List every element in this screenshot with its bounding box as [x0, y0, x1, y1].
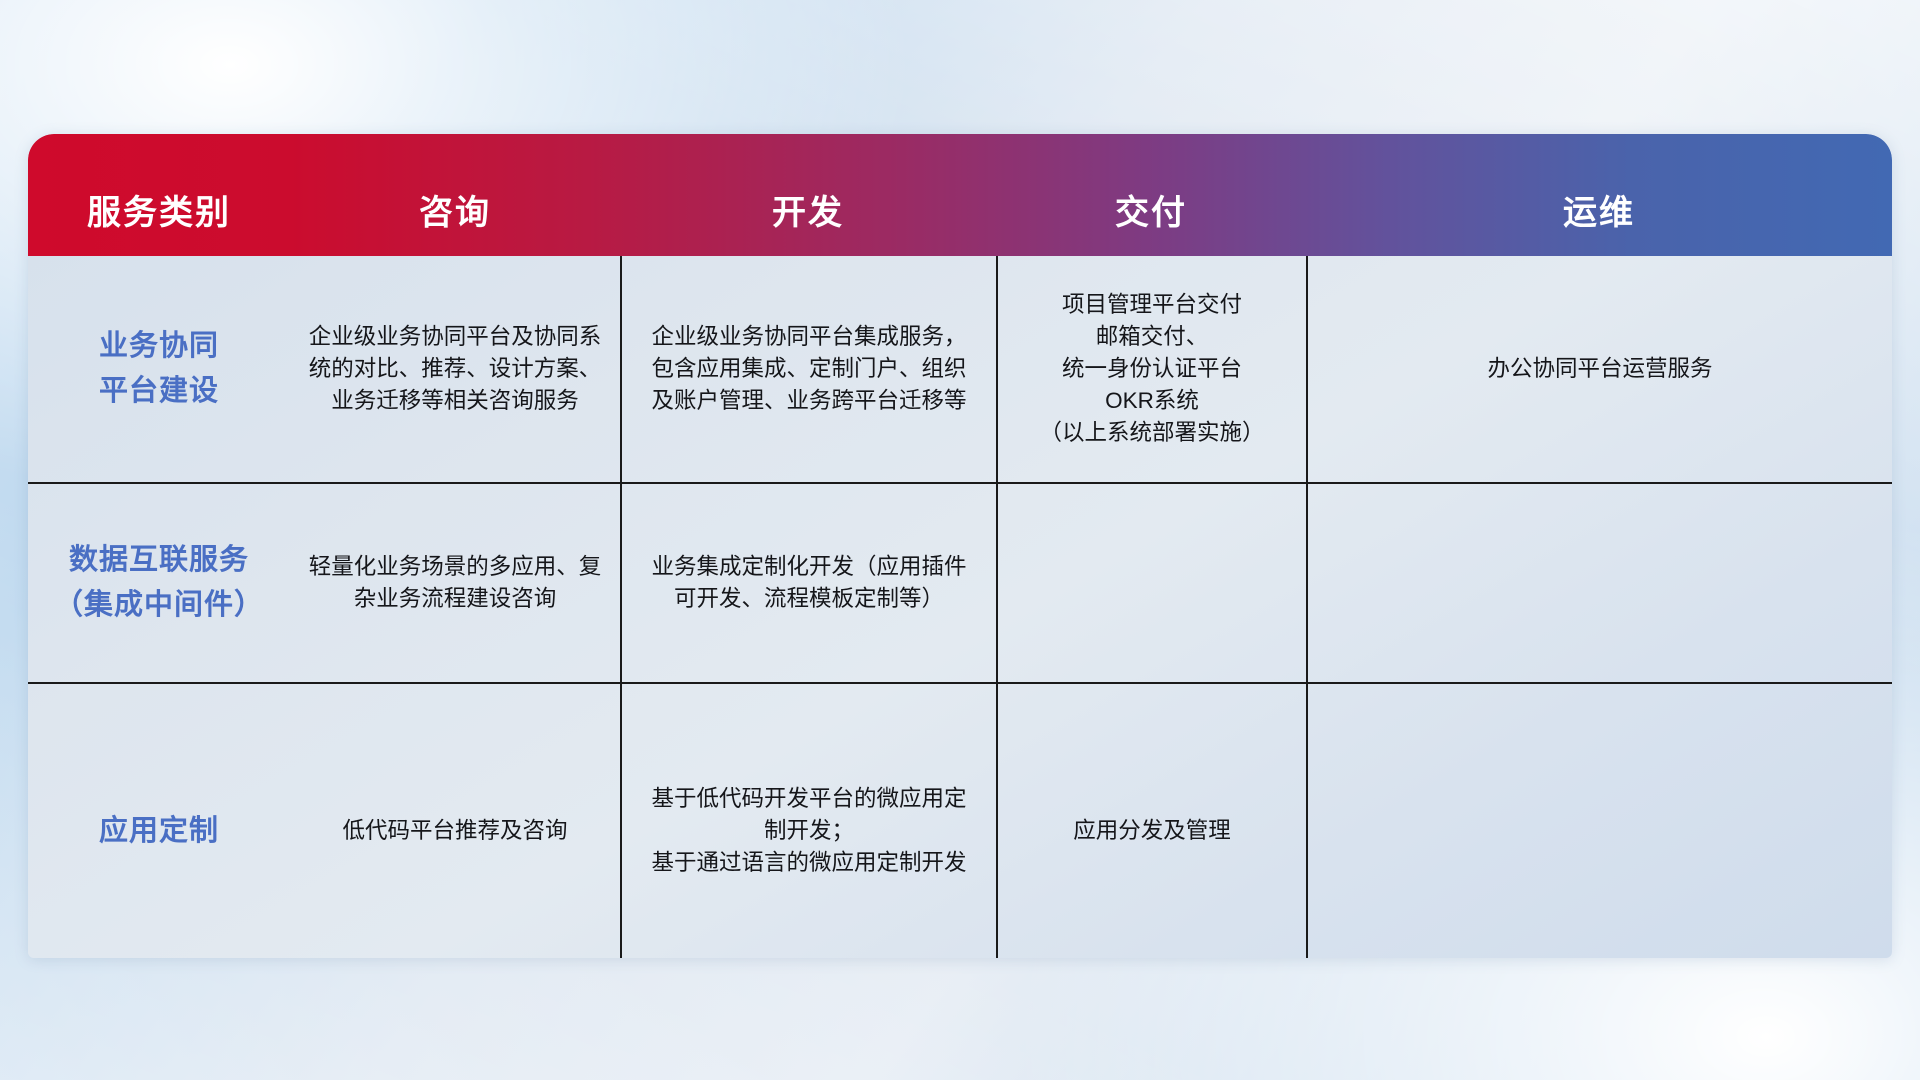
cell-category: 数据互联服务 （集成中间件） [28, 484, 290, 682]
cell-category: 应用定制 [28, 684, 290, 958]
cell-development: 基于低代码开发平台的微应用定 制开发； 基于通过语言的微应用定制开发 [620, 684, 996, 958]
cell-category: 业务协同 平台建设 [28, 256, 290, 482]
cell-consulting: 轻量化业务场景的多应用、复 杂业务流程建设咨询 [290, 484, 620, 682]
table-header-row: 服务类别 咨询 开发 交付 运维 [28, 134, 1892, 256]
cell-operations [1306, 684, 1892, 958]
cell-consulting: 企业级业务协同平台及协同系 统的对比、推荐、设计方案、 业务迁移等相关咨询服务 [290, 256, 620, 482]
table-row: 数据互联服务 （集成中间件） 轻量化业务场景的多应用、复 杂业务流程建设咨询 业… [28, 482, 1892, 682]
column-header-service-category: 服务类别 [28, 185, 290, 256]
cell-consulting: 低代码平台推荐及咨询 [290, 684, 620, 958]
services-matrix-table: 服务类别 咨询 开发 交付 运维 业务协同 平台建设 企业级业务协同平台及协同系… [28, 134, 1892, 958]
cell-delivery: 项目管理平台交付 邮箱交付、 统一身份认证平台 OKR系统 （以上系统部署实施） [996, 256, 1306, 482]
table-body: 业务协同 平台建设 企业级业务协同平台及协同系 统的对比、推荐、设计方案、 业务… [28, 256, 1892, 958]
cell-operations [1306, 484, 1892, 682]
cell-delivery: 应用分发及管理 [996, 684, 1306, 958]
column-header-delivery: 交付 [996, 185, 1306, 256]
table-row: 业务协同 平台建设 企业级业务协同平台及协同系 统的对比、推荐、设计方案、 业务… [28, 256, 1892, 482]
cell-development: 业务集成定制化开发（应用插件 可开发、流程模板定制等） [620, 484, 996, 682]
column-header-operations: 运维 [1306, 185, 1892, 256]
cell-delivery [996, 484, 1306, 682]
column-header-development: 开发 [620, 185, 996, 256]
cell-operations: 办公协同平台运营服务 [1306, 256, 1892, 482]
column-header-consulting: 咨询 [290, 185, 620, 256]
table-row: 应用定制 低代码平台推荐及咨询 基于低代码开发平台的微应用定 制开发； 基于通过… [28, 682, 1892, 958]
slide-canvas: 服务类别 咨询 开发 交付 运维 业务协同 平台建设 企业级业务协同平台及协同系… [0, 0, 1920, 1080]
cell-development: 企业级业务协同平台集成服务， 包含应用集成、定制门户、组织 及账户管理、业务跨平… [620, 256, 996, 482]
